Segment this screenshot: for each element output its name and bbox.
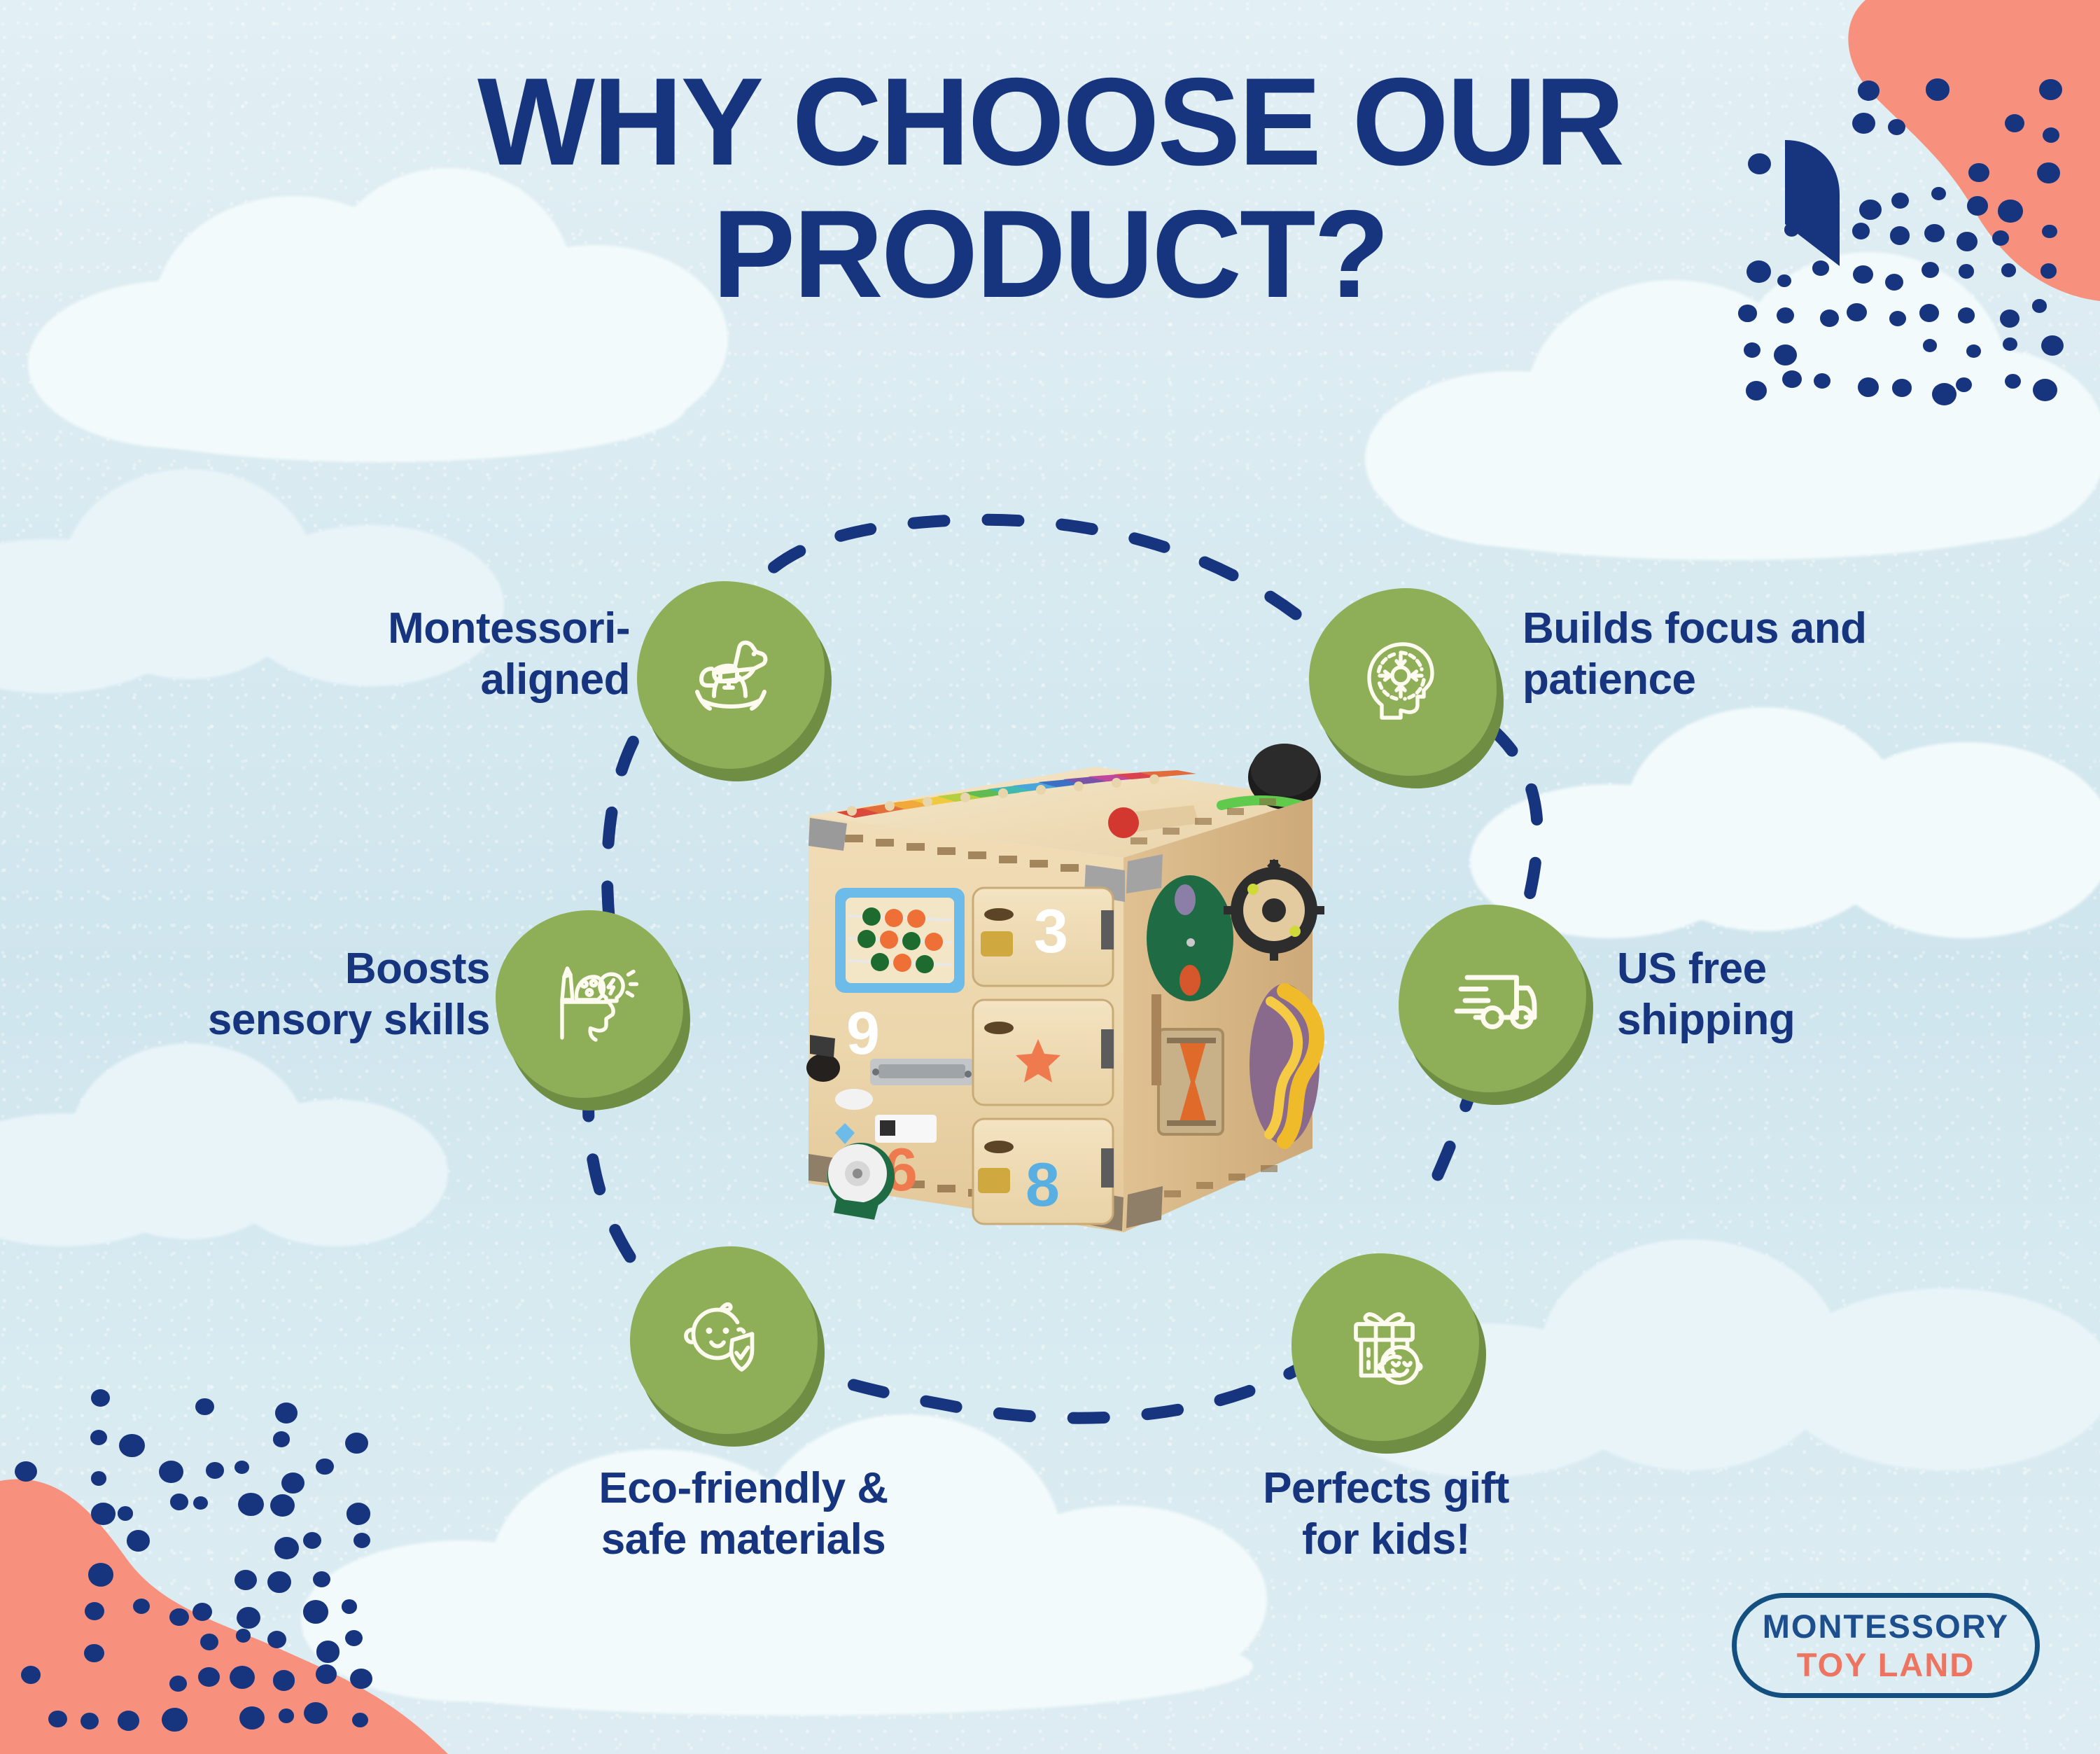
badge-disc [630,1246,818,1434]
product-image-busy-cube: 9 6 [731,700,1382,1281]
svg-text:8: 8 [1025,1150,1060,1219]
page-title: WHY CHOOSE OUR PRODUCT? [0,56,2100,320]
feature-label-line1: Builds focus and [1522,604,1866,653]
feature-label-line1: Perfects gift [1263,1464,1509,1512]
feature-label-montessori-aligned: Montessori- aligned [266,604,630,705]
delivery-truck-icon [1440,946,1545,1051]
logo-line-2: TOY LAND [1797,1648,1975,1681]
feature-label-line2: patience [1522,655,1696,704]
infographic-poster: WHY CHOOSE OUR PRODUCT? [0,0,2100,1754]
page-title-line2: PRODUCT? [126,188,1974,321]
feature-label-line2: for kids! [1302,1515,1470,1564]
feature-label-line1: Montessori- [388,604,630,653]
badge-disc [496,910,683,1098]
feature-label-line2: aligned [480,655,630,704]
feature-label-builds-focus: Builds focus and patience [1522,604,1984,705]
feature-label-line2: sensory skills [208,996,490,1044]
feature-label-line1: Eco-friendly & [598,1464,888,1512]
feature-label-eco-friendly: Eco-friendly & safe materials [498,1463,988,1565]
badge-builds-focus[interactable] [1309,588,1497,776]
feature-label-line1: US free [1617,945,1767,993]
badge-perfect-gift[interactable] [1291,1253,1479,1441]
feature-label-line2: shipping [1617,996,1795,1044]
badge-sensory-skills[interactable] [496,910,683,1098]
head-focus-target-icon [1350,629,1455,735]
cloud-right [1470,665,2100,945]
feature-label-sensory-skills: Boosts sensory skills [126,944,490,1045]
cloud-left-low [0,1015,462,1246]
dot-field-bottom-left [14,1397,392,1747]
svg-text:3: 3 [1034,896,1068,966]
badge-montessori-aligned[interactable] [637,581,825,769]
feature-label-line2: safe materials [601,1515,886,1564]
feature-label-free-shipping: US free shipping [1617,944,1981,1045]
creative-head-icon [537,952,642,1057]
logo-line-1: MONTESSORY [1763,1610,2010,1643]
baby-shield-icon [671,1288,776,1393]
feature-label-line1: Boosts [345,945,490,993]
feature-label-perfect-gift: Perfects gift for kids! [1176,1463,1596,1565]
brand-logo[interactable]: MONTESSORY TOY LAND [1732,1593,2040,1698]
badge-free-shipping[interactable] [1399,905,1586,1092]
rocking-horse-icon [678,622,783,728]
gift-baby-icon [1333,1295,1438,1400]
coral-blob-bottom-left [0,1404,448,1754]
svg-text:9: 9 [846,1000,880,1067]
badge-eco-friendly[interactable] [630,1246,818,1434]
page-title-line1: WHY CHOOSE OUR [477,52,1623,191]
